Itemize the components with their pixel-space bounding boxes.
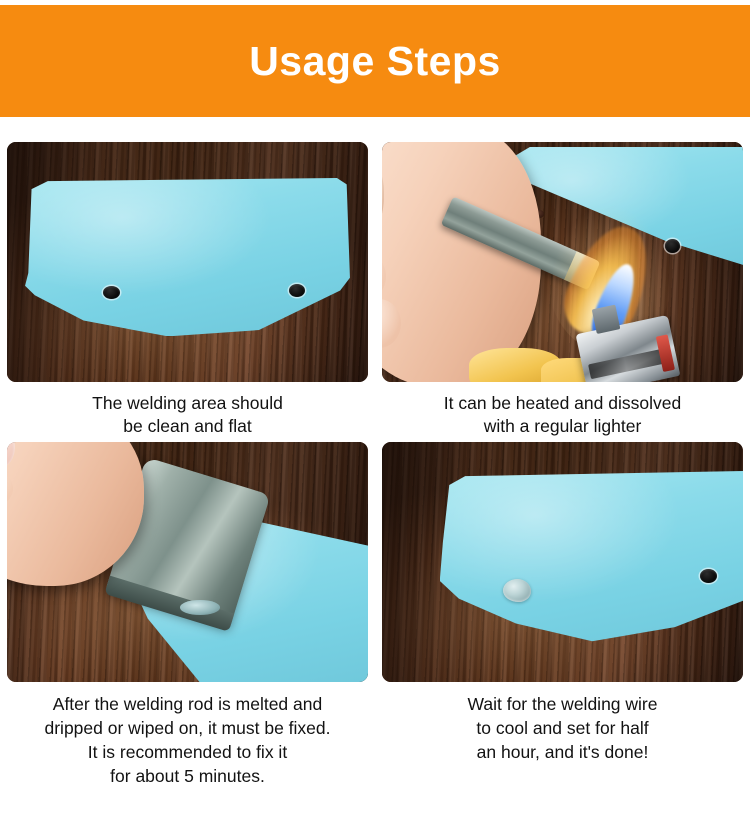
step-caption-3: After the welding rod is melted and drip… xyxy=(8,692,368,788)
lighter-nozzle xyxy=(591,305,620,334)
sheet-hole-right xyxy=(700,569,717,583)
knuckle-upper xyxy=(382,252,386,301)
thumbnail xyxy=(7,442,21,476)
step-cell-2: It can be heated and dissolved with a re… xyxy=(375,142,750,438)
step-cell-1: The welding area should be clean and fla… xyxy=(0,142,375,438)
step-cell-3: After the welding rod is melted and drip… xyxy=(0,442,375,788)
step-cell-4: Wait for the welding wire to cool and se… xyxy=(375,442,750,764)
sheet-hole-left xyxy=(103,286,120,299)
step-photo-1 xyxy=(7,142,368,382)
step-caption-4: Wait for the welding wire to cool and se… xyxy=(383,692,743,764)
step-photo-4 xyxy=(382,442,743,682)
sheet-hole-right xyxy=(289,284,305,297)
fingertip xyxy=(7,465,13,511)
melted-solder-blob xyxy=(180,600,220,614)
usage-steps-grid: The welding area should be clean and fla… xyxy=(0,117,750,823)
weld-blob xyxy=(503,579,531,602)
step-caption-2: It can be heated and dissolved with a re… xyxy=(383,392,743,438)
step-photo-2 xyxy=(382,142,743,382)
knuckle-lower xyxy=(382,299,401,348)
usage-steps-banner: Usage Steps xyxy=(0,5,750,117)
hand xyxy=(382,142,541,382)
page-title: Usage Steps xyxy=(249,41,501,82)
step-photo-3 xyxy=(7,442,368,682)
step-caption-1: The welding area should be clean and fla… xyxy=(8,392,368,438)
thumb xyxy=(382,154,384,240)
